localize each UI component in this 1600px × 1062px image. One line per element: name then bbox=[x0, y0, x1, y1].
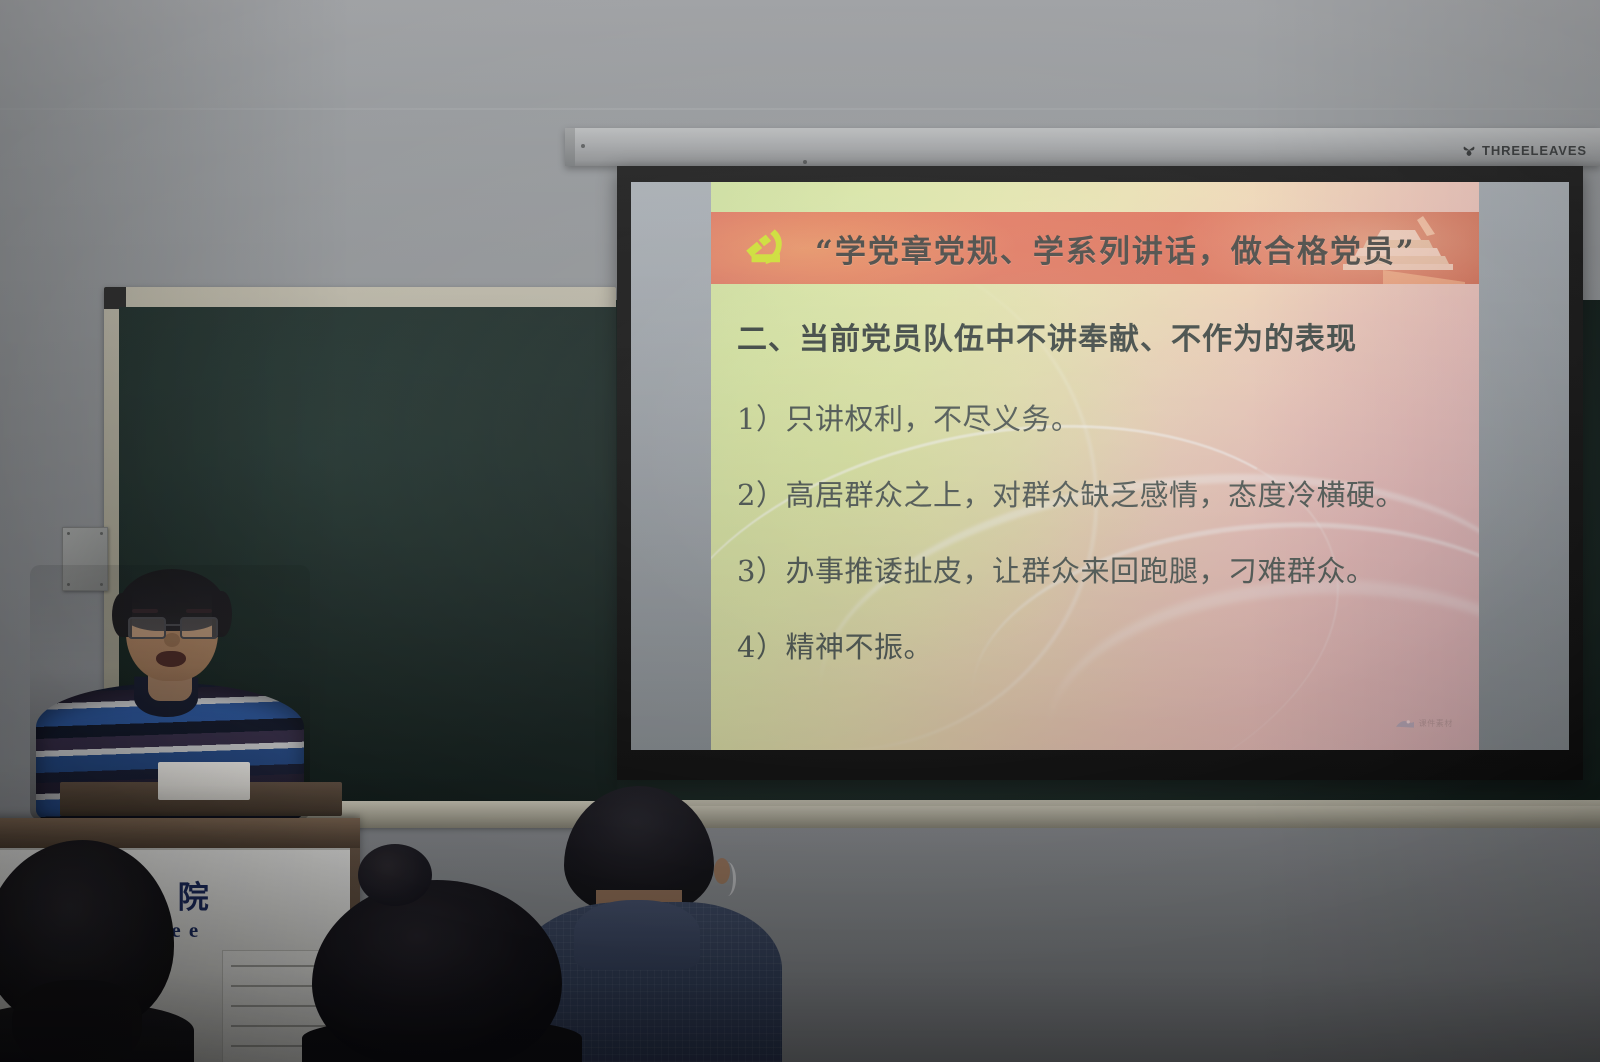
watermark-logo-icon bbox=[1395, 717, 1415, 730]
projector-brand-name: THREELEAVES bbox=[1482, 143, 1587, 158]
projected-slide: “学党章党规、学系列讲话，做合格党员” bbox=[711, 182, 1479, 750]
slide-banner-title: “学党章党规、学系列讲话，做合格党员” bbox=[815, 226, 1416, 271]
slide-watermark: 课件素材 bbox=[1395, 717, 1453, 730]
audience-member-hair-bun bbox=[312, 844, 572, 1062]
projector-screen-housing bbox=[565, 128, 1600, 166]
three-leaf-propeller-icon bbox=[1461, 142, 1477, 158]
eyeglasses-icon bbox=[128, 617, 218, 635]
screw-icon bbox=[67, 532, 70, 535]
slide-bullet-4: 4）精神不振。 bbox=[737, 624, 1461, 666]
slide-heading: 二、当前党员队伍中不讲奉献、不作为的表现 bbox=[737, 314, 1461, 358]
eyeglass-lens bbox=[128, 617, 166, 639]
screen-letterbox-right bbox=[1479, 182, 1569, 750]
hammer-and-sickle-icon bbox=[735, 224, 793, 272]
slide-bullet-1: 1）只讲权利，不尽义务。 bbox=[737, 396, 1461, 438]
slide-title-banner: “学党章党规、学系列讲话，做合格党员” bbox=[711, 212, 1479, 284]
face-mask-strap bbox=[719, 862, 736, 896]
screw-icon bbox=[803, 160, 807, 164]
audience-hair bbox=[312, 880, 562, 1062]
wall-seam bbox=[0, 108, 1600, 110]
audience-hair-bun bbox=[358, 844, 432, 906]
eyeglass-lens bbox=[180, 617, 218, 639]
audience-suit-collar bbox=[574, 900, 700, 970]
audience-hair bbox=[0, 840, 174, 1030]
projector-brand-logo: THREELEAVES bbox=[1461, 142, 1587, 158]
presenter-eyebrow bbox=[186, 609, 212, 613]
classroom-presentation-scene: THREELEAVES bbox=[0, 0, 1600, 1062]
slide-bullet-3: 3）办事推诿扯皮，让群众来回跑腿，刁难群众。 bbox=[737, 548, 1461, 590]
presenter-mouth bbox=[156, 651, 186, 667]
audience-member-curly-hair bbox=[0, 830, 198, 1062]
podium-equipment-box bbox=[158, 762, 250, 800]
slide-content: 二、当前党员队伍中不讲奉献、不作为的表现 1）只讲权利，不尽义务。 2）高居群众… bbox=[737, 314, 1461, 700]
presenter-eyebrow bbox=[132, 609, 158, 613]
housing-end-cap bbox=[565, 128, 575, 166]
watermark-text: 课件素材 bbox=[1419, 718, 1453, 729]
presenter-nose bbox=[164, 633, 180, 647]
slide-bullet-2: 2）高居群众之上，对群众缺乏感情，态度冷横硬。 bbox=[737, 472, 1461, 514]
screw-icon bbox=[581, 144, 585, 148]
blackboard-corner-bracket bbox=[104, 287, 126, 309]
projector-screen-surface: “学党章党规、学系列讲话，做合格党员” bbox=[631, 182, 1569, 750]
screen-letterbox-left bbox=[631, 182, 711, 750]
projector-screen: “学党章党规、学系列讲话，做合格党员” bbox=[617, 166, 1583, 780]
screw-icon bbox=[100, 532, 103, 535]
